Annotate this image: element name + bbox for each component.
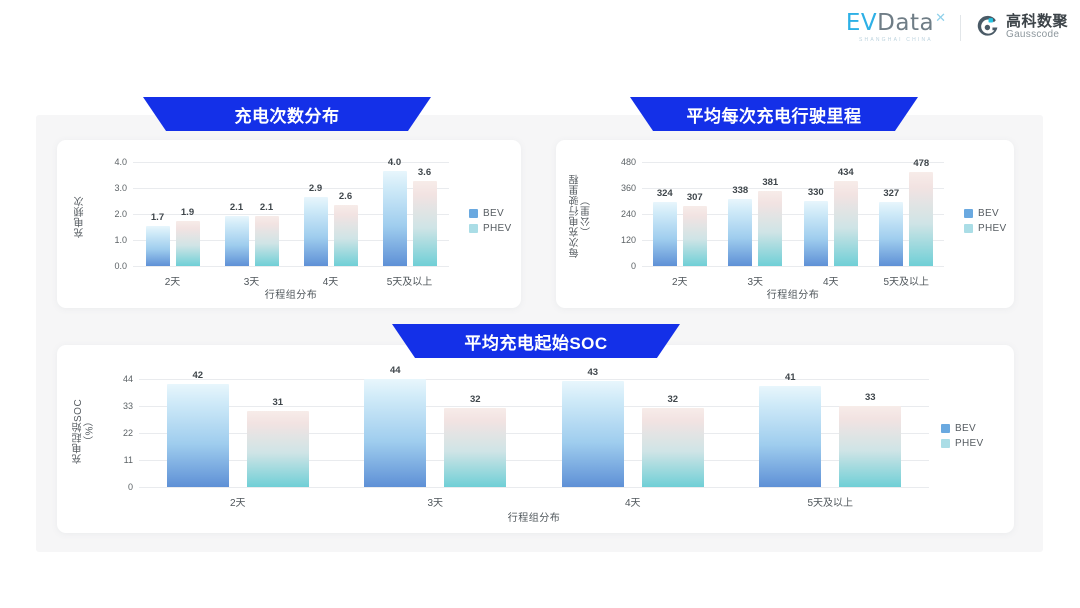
gridline — [133, 162, 449, 163]
bar-value-label: 43 — [587, 367, 598, 378]
legend-swatch-phev — [941, 439, 950, 448]
x-axis-tick-label: 3天 — [747, 273, 763, 288]
bar-phev-2 — [834, 181, 858, 266]
y-axis-tick-label: 1.0 — [114, 235, 127, 245]
y-axis-tick-label: 4.0 — [114, 157, 127, 167]
bar-value-label: 2.1 — [230, 202, 243, 213]
bar-value-label: 434 — [838, 167, 854, 178]
bar-phev-1 — [444, 408, 506, 487]
gridline — [139, 379, 929, 380]
legend-item-bev[interactable]: BEV — [941, 423, 983, 434]
evdata-logo-data: Data — [877, 12, 934, 35]
chart-title-banner-1: 充电次数分布 — [143, 97, 431, 131]
gridline — [642, 266, 944, 267]
x-axis-tick-label: 2天 — [230, 494, 246, 509]
bar-value-label: 327 — [883, 188, 899, 199]
x-axis-tick-label: 2天 — [165, 273, 181, 288]
bar-value-label: 2.6 — [339, 191, 352, 202]
bar-phev-0 — [176, 221, 200, 266]
bar-phev-3 — [413, 181, 437, 266]
bar-phev-3 — [839, 406, 901, 487]
bar-value-label: 32 — [470, 394, 481, 405]
bar-value-label: 2.1 — [260, 202, 273, 213]
y-axis-title: 充电起始SOC （%） — [73, 381, 96, 481]
bar-chart-charging-frequency: 充电频次1.71.92.12.12.92.64.03.60.01.02.03.0… — [57, 140, 521, 308]
legend-label-phev: PHEV — [978, 223, 1006, 234]
y-axis-tick-label: 0.0 — [114, 261, 127, 271]
slide-root: EV Data ✕ SHANGHAI CHINA 高科数聚 Gausscode … — [0, 0, 1080, 608]
bar-phev-2 — [334, 205, 358, 266]
y-axis-tick-label: 0 — [128, 482, 133, 492]
gridline — [642, 162, 944, 163]
y-axis-tick-label: 11 — [124, 455, 133, 465]
x-axis-tick-label: 3天 — [244, 273, 260, 288]
bar-value-label: 44 — [390, 365, 401, 376]
x-axis-title: 行程组分布 — [265, 286, 318, 301]
legend-swatch-phev — [964, 224, 973, 233]
chart-card-start-soc: 充电起始SOC （%）42314432433241330112233442天3天… — [57, 345, 1014, 533]
x-axis-tick-label: 5天及以上 — [807, 494, 853, 509]
bar-phev-1 — [758, 191, 782, 266]
y-axis-tick-label: 360 — [621, 183, 636, 193]
bar-bev-3 — [759, 386, 821, 487]
bar-bev-1 — [364, 379, 426, 487]
legend-swatch-bev — [469, 209, 478, 218]
bar-phev-0 — [247, 411, 309, 487]
bar-chart-start-soc: 充电起始SOC （%）42314432433241330112233442天3天… — [57, 345, 1014, 533]
legend-swatch-phev — [469, 224, 478, 233]
bar-value-label: 2.9 — [309, 183, 322, 194]
y-axis-tick-label: 3.0 — [114, 183, 127, 193]
bar-value-label: 41 — [785, 372, 796, 383]
bar-value-label: 1.7 — [151, 212, 164, 223]
gausscode-mark-icon — [975, 15, 1000, 40]
y-axis-tick-label: 44 — [123, 374, 133, 384]
y-axis-title: 充电频次 — [75, 182, 87, 252]
bar-bev-2 — [304, 197, 328, 266]
y-axis-tick-label: 120 — [621, 235, 636, 245]
y-axis-tick-label: 240 — [621, 209, 636, 219]
x-axis-title: 行程组分布 — [767, 286, 820, 301]
bar-chart-mileage-per-charge: 每次充电行驶里程 （公里）324307338381330434327478012… — [556, 140, 1014, 308]
legend-item-bev[interactable]: BEV — [964, 208, 1006, 219]
legend-label-bev: BEV — [978, 208, 999, 219]
chart-title-banner-3: 平均充电起始SOC — [392, 324, 680, 358]
plot-area: 4231443243324133 — [139, 379, 929, 487]
bar-value-label: 33 — [865, 392, 876, 403]
bar-value-label: 330 — [808, 187, 824, 198]
bar-bev-3 — [879, 202, 903, 266]
y-axis-tick-label: 0 — [631, 261, 636, 271]
logo-divider — [960, 15, 961, 41]
legend-label-phev: PHEV — [483, 223, 511, 234]
y-axis-title: 每次充电行驶里程 （公里） — [570, 156, 593, 276]
legend-label-bev: BEV — [955, 423, 976, 434]
bar-bev-2 — [562, 381, 624, 487]
legend-label-bev: BEV — [483, 208, 504, 219]
bar-bev-0 — [653, 202, 677, 266]
bar-value-label: 3.6 — [418, 167, 431, 178]
evdata-logo-ev: EV — [846, 12, 877, 35]
gausscode-name-cn: 高科数聚 — [1006, 14, 1068, 30]
gridline — [133, 266, 449, 267]
bar-value-label: 32 — [667, 394, 678, 405]
bar-bev-3 — [383, 171, 407, 266]
chart-legend: BEVPHEV — [964, 208, 1006, 234]
x-axis-tick-label: 5天及以上 — [883, 273, 929, 288]
bar-bev-1 — [728, 199, 752, 266]
bar-bev-0 — [167, 384, 229, 487]
bar-value-label: 338 — [732, 185, 748, 196]
bar-bev-0 — [146, 226, 170, 266]
x-axis-tick-label: 4天 — [823, 273, 839, 288]
bar-value-label: 324 — [657, 188, 673, 199]
bar-phev-1 — [255, 216, 279, 266]
bar-bev-1 — [225, 216, 249, 266]
legend-swatch-bev — [964, 209, 973, 218]
chart-card-charging-frequency: 充电频次1.71.92.12.12.92.64.03.60.01.02.03.0… — [57, 140, 521, 308]
x-axis-tick-label: 2天 — [672, 273, 688, 288]
bar-bev-2 — [804, 201, 828, 266]
plot-area: 1.71.92.12.12.92.64.03.6 — [133, 162, 449, 266]
evdata-cross-icon: ✕ — [935, 10, 946, 26]
bar-value-label: 381 — [762, 177, 778, 188]
legend-swatch-bev — [941, 424, 950, 433]
evdata-logo: EV Data ✕ SHANGHAI CHINA — [846, 12, 946, 43]
x-axis-tick-label: 4天 — [625, 494, 641, 509]
bar-value-label: 4.0 — [388, 157, 401, 168]
bar-value-label: 478 — [913, 158, 929, 169]
y-axis-tick-label: 2.0 — [114, 209, 127, 219]
gausscode-text: 高科数聚 Gausscode — [1006, 14, 1068, 40]
bar-phev-3 — [909, 172, 933, 266]
bar-value-label: 42 — [192, 370, 203, 381]
gridline — [139, 487, 929, 488]
x-axis-title: 行程组分布 — [508, 509, 561, 524]
chart-legend: BEVPHEV — [941, 423, 983, 449]
bar-phev-2 — [642, 408, 704, 487]
bar-phev-0 — [683, 206, 707, 266]
logo-bar: EV Data ✕ SHANGHAI CHINA 高科数聚 Gausscode — [846, 12, 1068, 43]
legend-item-phev[interactable]: PHEV — [469, 223, 511, 234]
plot-area: 324307338381330434327478 — [642, 162, 944, 266]
chart-card-mileage-per-charge: 每次充电行驶里程 （公里）324307338381330434327478012… — [556, 140, 1014, 308]
y-axis-tick-label: 480 — [621, 157, 636, 167]
x-axis-tick-label: 5天及以上 — [387, 273, 433, 288]
bar-value-label: 31 — [272, 397, 283, 408]
y-axis-tick-label: 33 — [123, 401, 133, 411]
legend-item-phev[interactable]: PHEV — [941, 438, 983, 449]
bar-value-label: 307 — [687, 192, 703, 203]
chart-legend: BEVPHEV — [469, 208, 511, 234]
gausscode-logo: 高科数聚 Gausscode — [975, 14, 1068, 40]
legend-item-phev[interactable]: PHEV — [964, 223, 1006, 234]
legend-label-phev: PHEV — [955, 438, 983, 449]
x-axis-tick-label: 4天 — [323, 273, 339, 288]
evdata-logo-subtitle: SHANGHAI CHINA — [859, 37, 933, 43]
evdata-wordmark: EV Data ✕ — [846, 12, 946, 35]
bar-value-label: 1.9 — [181, 207, 194, 218]
y-axis-tick-label: 22 — [123, 428, 133, 438]
legend-item-bev[interactable]: BEV — [469, 208, 511, 219]
chart-title-banner-2: 平均每次充电行驶里程 — [630, 97, 918, 131]
gausscode-name-en: Gausscode — [1006, 30, 1068, 41]
x-axis-tick-label: 3天 — [427, 494, 443, 509]
